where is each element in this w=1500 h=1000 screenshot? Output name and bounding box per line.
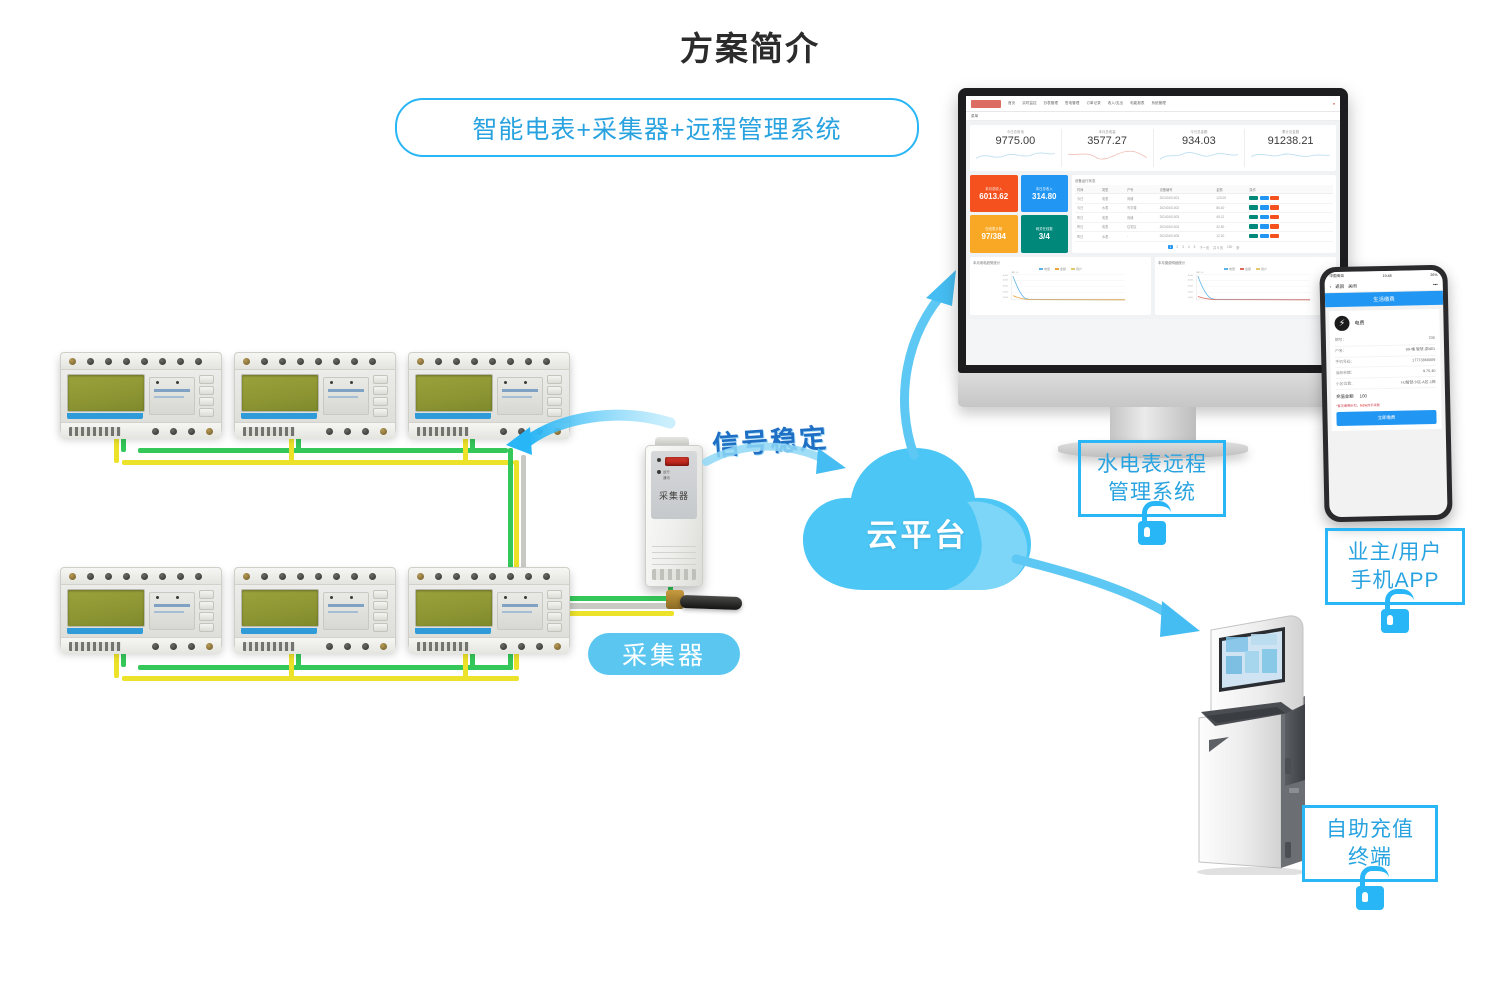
page-total: 共 5 页	[1212, 245, 1224, 250]
phone-screen[interactable]: 中国电信 19:48 26% ‹ 返回 关闭 ••• 生活缴费 ⚡ 电费 期号：…	[1324, 270, 1447, 517]
chart-ytick: 60,000	[1003, 275, 1008, 277]
collector-red-display	[665, 457, 689, 466]
kpi-label: 今日总用电	[970, 129, 1061, 134]
stat-card-grid: 本月总收入 6013.62 本日总收入 314.80 在线表计数 97/384 …	[970, 175, 1068, 253]
collector-pill-text: 采集器	[622, 636, 706, 672]
collector-device-label: 采集器	[651, 489, 697, 502]
chart-ytick: 20,000	[1003, 291, 1008, 293]
stat-card-value: 314.80	[1032, 192, 1056, 201]
meter-top-terminals	[61, 353, 221, 370]
chart-ytick: 10,000	[1188, 297, 1193, 299]
meter-buttons[interactable]	[199, 590, 214, 632]
cell-actions[interactable]	[1247, 222, 1333, 232]
cell-device: 20240101005	[1158, 232, 1215, 242]
chart-panel-1: 本月缴费明细统计 电量 金额 用户	[1155, 257, 1336, 315]
field-value: ￥75.40	[1422, 369, 1435, 374]
page-title: 方案简介	[0, 22, 1500, 70]
col-type: 类型	[1100, 185, 1125, 194]
meter-device-2[interactable]	[234, 352, 396, 434]
callout-app-line1: 业主/用户	[1338, 539, 1452, 567]
chart-ylabel: 金额（元）	[1196, 271, 1204, 274]
meter-device-4[interactable]	[60, 567, 222, 649]
col-action: 操作	[1247, 185, 1333, 194]
status-time: 19:48	[1383, 273, 1392, 277]
cell-device: 20240101004	[1158, 222, 1215, 232]
page-size-unit: 条	[1235, 245, 1240, 250]
stat-card-1[interactable]: 本日总收入 314.80	[1021, 175, 1069, 212]
nav-item-5[interactable]: 收入/支出	[1108, 101, 1123, 106]
table-row[interactable]: 今日 水表 写字楼 20240101002 86.40	[1075, 203, 1333, 213]
table-row[interactable]: 昨日 电表 商铺 20240101003 45.12	[1075, 213, 1333, 223]
callout-kiosk: 自助充值 终端	[1302, 805, 1438, 910]
cell-actions[interactable]	[1247, 232, 1333, 242]
cell-type: 电表	[1100, 194, 1125, 204]
chart-plot: 60,000 40,000 30,000 20,000 10,000 金额（元）	[973, 271, 1148, 305]
collector-led-label-2: 通讯	[663, 475, 670, 480]
wire-yellow-top-bus	[122, 460, 514, 465]
chart-row: 本月用电趋势统计 电量 金额 用户	[970, 257, 1336, 315]
table-pager[interactable]: 1 2 3 4 5 下一页 共 5 页 100 条	[1075, 245, 1333, 250]
field-label: 小区位置：	[1336, 381, 1355, 386]
cell-amount: 12.20	[1214, 232, 1247, 242]
meter-buttons[interactable]	[373, 375, 388, 417]
mid-row: 本月总收入 6013.62 本日总收入 314.80 在线表计数 97/384 …	[970, 175, 1336, 253]
field-value: 700	[1428, 336, 1434, 341]
dashboard-subbar: 菜单	[966, 112, 1340, 121]
chart-ytick: 30,000	[1188, 285, 1193, 287]
monitor-chin	[958, 373, 1348, 407]
phone-device: 中国电信 19:48 26% ‹ 返回 关闭 ••• 生活缴费 ⚡ 电费 期号：…	[1319, 265, 1452, 523]
kpi-value: 3577.27	[1062, 135, 1153, 147]
collector-device[interactable]: 运行 通讯 采集器	[645, 445, 703, 587]
cell-time: 昨日	[1075, 222, 1100, 232]
stat-card-value: 3/4	[1039, 232, 1050, 241]
more-icon[interactable]: •••	[1433, 282, 1438, 287]
cell-time: 昨日	[1075, 213, 1100, 223]
chart-ytick: 40,000	[1188, 279, 1193, 281]
terminal-screw	[159, 358, 166, 365]
cell-amount: 86.40	[1214, 203, 1247, 213]
page-2[interactable]: 2	[1175, 245, 1179, 249]
col-time: 时间	[1075, 185, 1100, 194]
cell-type: 水表	[1100, 203, 1125, 213]
terminal-screw	[123, 358, 130, 365]
cell-device: 20240101002	[1158, 203, 1215, 213]
field-label: 户名：	[1335, 349, 1346, 354]
chart-panel-0: 本月用电趋势统计 电量 金额 用户	[970, 257, 1151, 315]
meter-lcd	[67, 374, 145, 419]
meter-lcd	[67, 589, 145, 634]
wire-green-top-bus	[138, 448, 508, 453]
meter-bottom-terminals	[235, 422, 395, 439]
table-row[interactable]: 昨日 水表 - 20240101005 12.20	[1075, 232, 1333, 242]
unlock-icon	[1350, 866, 1390, 910]
nav-item-7[interactable]: 系统管理	[1151, 101, 1165, 106]
collector-bottom-terminals	[652, 569, 696, 580]
callout-app: 业主/用户 手机APP	[1325, 528, 1465, 633]
cell-actions[interactable]	[1247, 194, 1333, 204]
collector-led-label-1: 运行	[663, 469, 670, 474]
meter-top-terminals	[61, 568, 221, 585]
cell-amount: 45.12	[1214, 213, 1247, 223]
note-suffix: 的手续费	[1367, 403, 1380, 407]
chart-plot: 60,000 40,000 30,000 20,000 10,000 金额（元）	[1158, 271, 1333, 305]
field-value: 17773860009	[1412, 358, 1435, 363]
nav-item-4[interactable]: 订单记录	[1086, 101, 1100, 106]
terminal-screw	[206, 428, 213, 435]
kpi-sparkline	[1160, 148, 1239, 162]
data-table: 时间 类型 户号 设备编号 金额 操作 今日 电表 商铺	[1075, 185, 1333, 242]
cell-type: 电表	[1100, 213, 1125, 223]
cell-amount: 120.00	[1214, 194, 1247, 204]
unlock-icon	[1132, 501, 1172, 545]
meter-face	[235, 585, 395, 637]
collector-label-pill: 采集器	[588, 633, 740, 675]
kpi-value: 91238.21	[1245, 135, 1336, 147]
phone-bill-card: ⚡ 电费 期号： 700 户名： 99-幢 智慧-部d01 手机号码： 1777…	[1329, 309, 1441, 431]
callout-kiosk-line1: 自助充值	[1315, 816, 1425, 844]
cell-house: 写字楼	[1125, 203, 1158, 213]
terminal-screw	[170, 428, 177, 435]
terminal-screw	[177, 358, 184, 365]
chart-title: 本月缴费明细统计	[1158, 260, 1333, 265]
meter-brand-plate	[497, 592, 543, 630]
kpi-card: 今日总用电 9775.00	[970, 129, 1062, 167]
field-value: HJ智慧小区-A区-1栋	[1401, 379, 1436, 385]
terminal-screw	[152, 428, 159, 435]
cell-house: 住宅区	[1125, 222, 1158, 232]
field-label: 期号：	[1335, 338, 1346, 343]
stat-card-label: 本月总收入	[985, 186, 1002, 191]
stat-card-0[interactable]: 本月总收入 6013.62	[970, 175, 1018, 212]
brand-logo-icon	[971, 100, 1001, 108]
dashboard-body: 今日总用电 9775.00 本月总电量 3577.27 今日总金额 934.03	[966, 121, 1340, 319]
cell-house: 商铺	[1125, 194, 1158, 204]
table-title: 设备运行状态	[1075, 178, 1333, 183]
meter-top-terminals	[235, 353, 395, 370]
back-label[interactable]: 返回	[1335, 283, 1344, 289]
stat-card-label: 在线表计数	[985, 226, 1002, 231]
page-4[interactable]: 4	[1187, 245, 1191, 249]
kpi-label: 累计总金额	[1245, 129, 1336, 134]
callout-pc: 水电表远程 管理系统	[1078, 440, 1226, 545]
recharge-amount-label: 充值金额	[1336, 394, 1354, 400]
dashboard-navbar[interactable]: 首页 实时监控 抄表管理 售电管理 订单记录 收入/支出 电能报表 系统管理 ●	[966, 96, 1340, 112]
meter-bottom-terminals	[235, 637, 395, 654]
meter-brand-plate	[323, 592, 369, 630]
nav-item-3[interactable]: 售电管理	[1065, 101, 1079, 106]
meter-device-6[interactable]	[408, 567, 570, 649]
monitor-device: 首页 实时监控 抄表管理 售电管理 订单记录 收入/支出 电能报表 系统管理 ●…	[958, 88, 1348, 373]
chart-title: 本月用电趋势统计	[973, 260, 1148, 265]
chart-ytick: 60,000	[1188, 275, 1193, 277]
collector-face: 运行 通讯 采集器	[651, 451, 697, 519]
terminal-strip	[69, 427, 121, 436]
meter-top-terminals	[409, 568, 569, 585]
close-label[interactable]: 关闭	[1348, 283, 1357, 289]
subtitle-pill: 智能电表+采集器+远程管理系统	[395, 98, 919, 157]
col-device: 设备编号	[1158, 185, 1215, 194]
meter-buttons[interactable]	[199, 375, 214, 417]
nav-item-1[interactable]: 实时监控	[1022, 101, 1036, 106]
meter-brand-plate	[149, 592, 195, 630]
terminal-screw	[105, 358, 112, 365]
recharge-amount-input[interactable]: 100	[1360, 394, 1367, 399]
meter-lcd	[241, 374, 319, 419]
meter-bottom-terminals	[409, 637, 569, 654]
cloud-platform-label: 云平台	[795, 510, 1040, 555]
bill-type-label: 电费	[1354, 319, 1364, 326]
wire-yellow-bot-bus	[122, 676, 519, 681]
cell-amount: 32.50	[1214, 222, 1247, 232]
kpi-label: 今日总金额	[1154, 129, 1245, 134]
table-row[interactable]: 昨日 电表 住宅区 20240101004 32.50	[1075, 222, 1333, 232]
stat-card-label: 本日总收入	[1036, 186, 1053, 191]
cell-type: 电表	[1100, 222, 1125, 232]
meter-face	[235, 370, 395, 422]
kpi-sparkline	[1068, 148, 1147, 162]
meter-bottom-terminals	[61, 637, 221, 654]
nav-item-6[interactable]: 电能报表	[1130, 101, 1144, 106]
stat-card-value: 6013.62	[979, 192, 1008, 201]
page-5[interactable]: 5	[1193, 245, 1197, 249]
meter-device-5[interactable]	[234, 567, 396, 649]
cell-device: 20240101001	[1158, 194, 1215, 204]
collector-led-comm	[657, 470, 661, 474]
kpi-card: 今日总金额 934.03	[1154, 129, 1246, 167]
kpi-card: 累计总金额 91238.21	[1245, 129, 1336, 167]
chart-ylabel: 金额（元）	[1011, 271, 1019, 274]
dashboard-screen[interactable]: 首页 实时监控 抄表管理 售电管理 订单记录 收入/支出 电能报表 系统管理 ●…	[966, 96, 1340, 365]
cell-actions[interactable]	[1247, 203, 1333, 213]
collector-vents	[652, 541, 696, 567]
back-icon[interactable]: ‹	[1330, 284, 1332, 289]
cell-house: 商铺	[1125, 213, 1158, 223]
terminal-screw	[87, 358, 94, 365]
data-table-panel: 设备运行状态 时间 类型 户号 设备编号 金额 操作 今日	[1072, 175, 1336, 253]
page-3[interactable]: 3	[1181, 245, 1185, 249]
field-label: 当前余额：	[1336, 370, 1355, 375]
cell-actions[interactable]	[1247, 213, 1333, 223]
col-amount: 金额	[1214, 185, 1247, 194]
terminal-screw	[141, 358, 148, 365]
kpi-sparkline	[976, 148, 1055, 162]
kpi-value: 934.03	[1154, 135, 1245, 147]
meter-device-1[interactable]	[60, 352, 222, 434]
subtitle-text: 智能电表+采集器+远程管理系统	[472, 110, 841, 146]
meter-buttons[interactable]	[373, 590, 388, 632]
field-label: 手机号码：	[1335, 360, 1354, 365]
note-prefix: *暂无缴费折扣，	[1336, 403, 1360, 407]
meter-top-terminals	[235, 568, 395, 585]
stat-card-3[interactable]: 网关在线数 3/4	[1021, 215, 1069, 252]
meter-face	[61, 585, 221, 637]
unlock-icon	[1375, 589, 1415, 633]
confirm-pay-button[interactable]: 立即缴费	[1336, 410, 1436, 426]
table-row[interactable]: 今日 电表 商铺 20240101001 120.00	[1075, 194, 1333, 204]
terminal-screw	[69, 358, 76, 365]
meter-bottom-terminals	[61, 422, 221, 439]
cell-type: 水表	[1100, 232, 1125, 242]
wire-green-bot-bus	[138, 665, 513, 670]
antenna-icon	[680, 595, 742, 610]
terminal-screw	[188, 428, 195, 435]
status-carrier: 中国电信	[1329, 274, 1343, 279]
nav-item-0[interactable]: 首页	[1008, 101, 1015, 106]
chart-ytick: 40,000	[1003, 279, 1008, 281]
terminal-screw	[195, 358, 202, 365]
nav-item-2[interactable]: 抄表管理	[1044, 101, 1058, 106]
phone-page-title: 生活缴费	[1325, 291, 1443, 307]
col-house: 户号	[1125, 185, 1158, 194]
bolt-icon: ⚡	[1334, 316, 1349, 331]
stat-card-2[interactable]: 在线表计数 97/384	[970, 215, 1018, 252]
page-size[interactable]: 100	[1226, 245, 1233, 249]
callout-pc-line1: 水电表远程	[1091, 451, 1213, 479]
cell-house: -	[1125, 232, 1158, 242]
kpi-label: 本月总电量	[1062, 129, 1153, 134]
table-header-row: 时间 类型 户号 设备编号 金额 操作	[1075, 185, 1333, 194]
meter-face	[409, 585, 569, 637]
collector-led-run	[657, 458, 661, 462]
cell-time: 今日	[1075, 203, 1100, 213]
field-value: 99-幢 智慧-部d01	[1406, 347, 1435, 353]
page-next[interactable]: 下一页	[1198, 245, 1210, 250]
side-menu-label: 菜单	[971, 114, 978, 119]
stat-card-value: 97/384	[982, 232, 1006, 241]
cell-device: 20240101003	[1158, 213, 1215, 223]
meter-lcd	[241, 589, 319, 634]
chart-ytick: 30,000	[1003, 285, 1008, 287]
kpi-card: 本月总电量 3577.27	[1062, 129, 1154, 167]
kpi-row: 今日总用电 9775.00 本月总电量 3577.27 今日总金额 934.03	[970, 125, 1336, 171]
meter-buttons[interactable]	[547, 590, 562, 632]
chart-ytick: 20,000	[1188, 291, 1193, 293]
meter-brand-plate	[323, 377, 369, 415]
cell-time: 今日	[1075, 194, 1100, 204]
status-battery: 26%	[1430, 272, 1437, 276]
page-1[interactable]: 1	[1168, 245, 1174, 249]
kpi-sparkline	[1251, 148, 1330, 162]
meter-face	[61, 370, 221, 422]
cell-time: 昨日	[1075, 232, 1100, 242]
stat-card-label: 网关在线数	[1036, 226, 1053, 231]
chart-ytick: 10,000	[1003, 297, 1008, 299]
kpi-value: 9775.00	[970, 135, 1061, 147]
meter-lcd	[415, 589, 493, 634]
user-avatar[interactable]: ●	[1333, 102, 1335, 106]
meter-top-terminals	[409, 353, 569, 370]
meter-brand-plate	[149, 377, 195, 415]
note-highlight: 0.0%	[1360, 403, 1367, 407]
